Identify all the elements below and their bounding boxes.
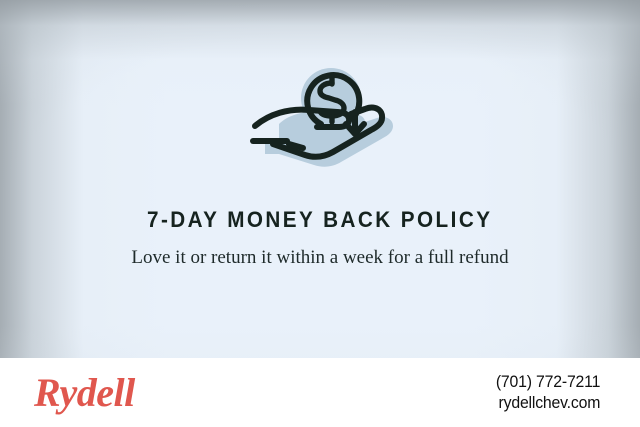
website-url[interactable]: rydellchev.com <box>496 393 600 414</box>
money-back-hand-icon <box>225 64 415 184</box>
promo-banner: 7-DAY MONEY BACK POLICY Love it or retur… <box>0 0 640 427</box>
banner-content: 7-DAY MONEY BACK POLICY Love it or retur… <box>0 0 640 358</box>
page-title: 7-DAY MONEY BACK POLICY <box>147 208 492 232</box>
phone-number[interactable]: (701) 772-7211 <box>496 372 600 393</box>
contact-info: (701) 772-7211 rydellchev.com <box>488 372 600 413</box>
page-subtitle: Love it or return it within a week for a… <box>130 245 510 270</box>
rydell-logo[interactable]: Rydell <box>34 373 135 413</box>
banner-footer: Rydell (701) 772-7211 rydellchev.com <box>0 358 640 427</box>
